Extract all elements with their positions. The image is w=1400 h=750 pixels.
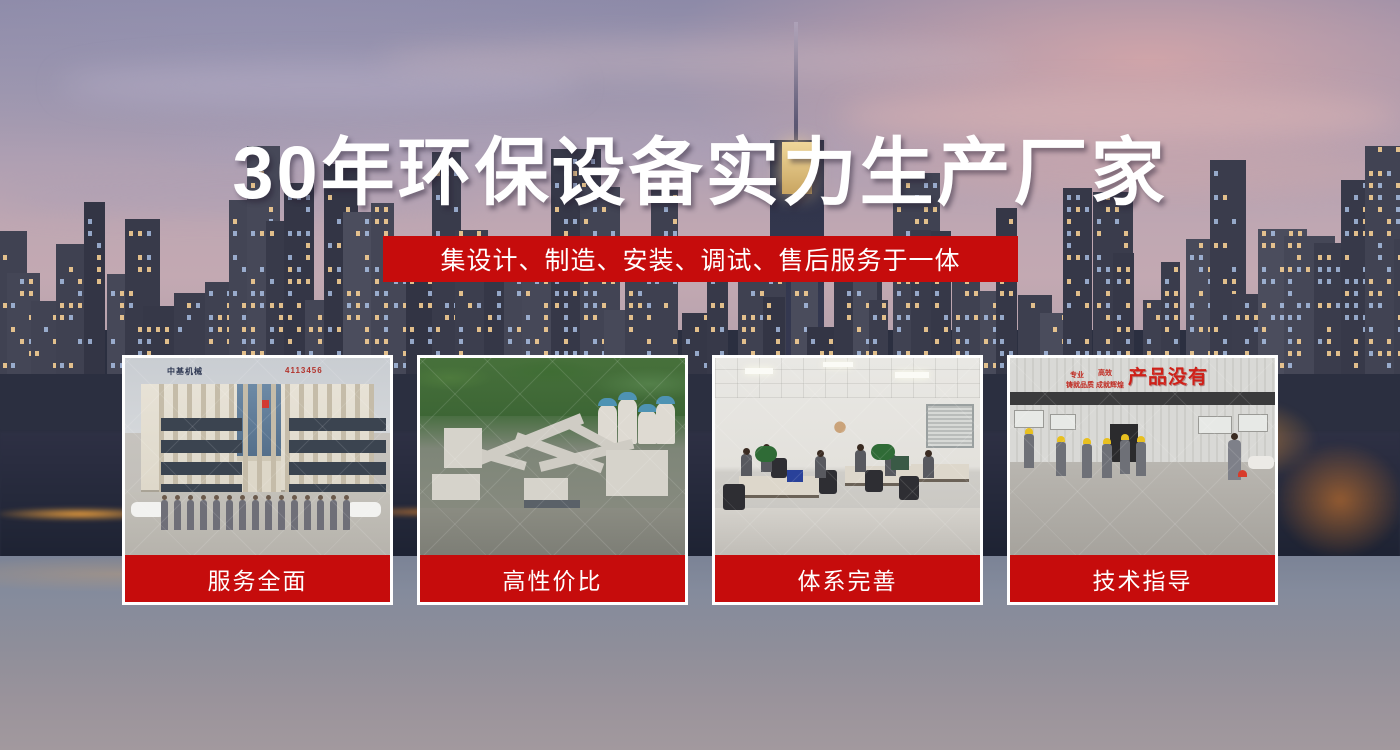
window-light bbox=[309, 327, 313, 332]
window-light bbox=[924, 219, 928, 224]
window-light bbox=[1126, 267, 1130, 272]
window-light bbox=[233, 255, 237, 260]
facade-column bbox=[369, 384, 374, 492]
window-light bbox=[165, 327, 169, 332]
factory-window bbox=[1238, 414, 1268, 432]
window-light bbox=[279, 303, 283, 308]
window-light bbox=[1174, 291, 1178, 296]
window-light bbox=[1199, 327, 1203, 332]
window-light bbox=[1106, 267, 1110, 272]
facade-column bbox=[299, 384, 304, 492]
window-light bbox=[497, 303, 501, 308]
office-chair bbox=[899, 476, 919, 500]
window-light bbox=[384, 219, 388, 224]
factory-slogan-small: 专业 bbox=[1070, 370, 1084, 380]
window-light bbox=[337, 279, 341, 284]
window-light bbox=[384, 315, 388, 320]
window-light bbox=[297, 303, 301, 308]
window-light bbox=[584, 219, 588, 224]
window-light bbox=[328, 327, 332, 332]
window-light bbox=[270, 327, 274, 332]
window-light bbox=[1369, 303, 1373, 308]
staff-person bbox=[187, 500, 194, 530]
window-light bbox=[1126, 339, 1130, 344]
facade-column bbox=[341, 384, 346, 492]
window-light bbox=[337, 243, 341, 248]
building-phone-text: 4113456 bbox=[285, 366, 323, 375]
storage-silo bbox=[656, 402, 675, 444]
window-light bbox=[88, 219, 92, 224]
window-light bbox=[1232, 279, 1236, 284]
window-light bbox=[375, 315, 379, 320]
window-light bbox=[1387, 219, 1391, 224]
window-light bbox=[1067, 339, 1071, 344]
window-light bbox=[120, 291, 124, 296]
window-light bbox=[445, 315, 449, 320]
window-light bbox=[965, 291, 969, 296]
window-light bbox=[1053, 327, 1057, 332]
window-light bbox=[384, 291, 388, 296]
window-light bbox=[1124, 243, 1128, 248]
window-light bbox=[1214, 219, 1218, 224]
window-light bbox=[897, 327, 901, 332]
window-light bbox=[138, 255, 142, 260]
window-light bbox=[1262, 243, 1266, 248]
window-light bbox=[593, 315, 597, 320]
staff-person bbox=[239, 500, 246, 530]
window-light bbox=[1223, 279, 1227, 284]
office-chair bbox=[723, 484, 745, 510]
skyline-building bbox=[84, 202, 105, 374]
window-light bbox=[1378, 303, 1382, 308]
window-light bbox=[1387, 339, 1391, 344]
window-light bbox=[288, 339, 292, 344]
window-light bbox=[147, 327, 151, 332]
facade-column bbox=[271, 384, 276, 492]
window-light bbox=[356, 291, 360, 296]
window-light bbox=[638, 303, 642, 308]
window-light bbox=[328, 291, 332, 296]
window-light bbox=[129, 303, 133, 308]
window-light bbox=[1396, 219, 1400, 224]
window-light bbox=[410, 327, 414, 332]
ceiling-light bbox=[823, 362, 853, 367]
window-light bbox=[365, 303, 369, 308]
window-light bbox=[956, 315, 960, 320]
window-light bbox=[1190, 315, 1194, 320]
window-light bbox=[1271, 231, 1275, 236]
window-light bbox=[318, 327, 322, 332]
window-light bbox=[1345, 279, 1349, 284]
window-light bbox=[1327, 327, 1331, 332]
window-light bbox=[365, 327, 369, 332]
window-light bbox=[1318, 339, 1322, 344]
window-light bbox=[573, 291, 577, 296]
window-light bbox=[629, 291, 633, 296]
card-caption: 高性价比 bbox=[420, 555, 685, 602]
window-light bbox=[445, 303, 449, 308]
window-light bbox=[944, 315, 948, 320]
window-light bbox=[318, 339, 322, 344]
window-light bbox=[984, 315, 988, 320]
window-light bbox=[1097, 219, 1101, 224]
window-light bbox=[375, 291, 379, 296]
window-light bbox=[1369, 231, 1373, 236]
window-light bbox=[147, 231, 151, 236]
worker-person bbox=[1024, 434, 1034, 468]
window-light bbox=[804, 291, 808, 296]
facade-column bbox=[327, 384, 332, 492]
silo-cap bbox=[598, 398, 617, 406]
window-light bbox=[11, 327, 15, 332]
window-light bbox=[1288, 291, 1292, 296]
window-light bbox=[1031, 303, 1035, 308]
window-light bbox=[1297, 351, 1301, 356]
window-light bbox=[673, 219, 677, 224]
window-light bbox=[328, 243, 332, 248]
window-light bbox=[1076, 291, 1080, 296]
window-light bbox=[1076, 231, 1080, 236]
window-light bbox=[187, 315, 191, 320]
window-light bbox=[935, 303, 939, 308]
window-light bbox=[1327, 255, 1331, 260]
window-light bbox=[365, 255, 369, 260]
window-light bbox=[1378, 351, 1382, 356]
staff-person bbox=[252, 500, 259, 530]
window-light bbox=[564, 291, 568, 296]
factory-slogan-small: 成就辉煌 bbox=[1096, 380, 1124, 390]
window-light bbox=[306, 255, 310, 260]
window-light bbox=[88, 231, 92, 236]
window-light bbox=[1262, 303, 1266, 308]
facade-window bbox=[353, 462, 370, 475]
window-light bbox=[1126, 327, 1130, 332]
window-light bbox=[584, 291, 588, 296]
facade-window bbox=[337, 418, 354, 431]
window-light bbox=[882, 303, 886, 308]
staff-person bbox=[174, 500, 181, 530]
card-caption: 服务全面 bbox=[125, 555, 390, 602]
window-light bbox=[1174, 303, 1178, 308]
window-light bbox=[935, 339, 939, 344]
window-light bbox=[1190, 327, 1194, 332]
window-light bbox=[306, 231, 310, 236]
facade-window bbox=[369, 462, 386, 475]
window-light bbox=[1306, 267, 1310, 272]
facade-window bbox=[177, 462, 194, 475]
window-light bbox=[97, 267, 101, 272]
window-light bbox=[1369, 291, 1373, 296]
window-light bbox=[1262, 231, 1266, 236]
window-light bbox=[1387, 363, 1391, 368]
window-light bbox=[1378, 255, 1382, 260]
window-light bbox=[584, 315, 588, 320]
window-light bbox=[742, 315, 746, 320]
window-light bbox=[120, 303, 124, 308]
window-light bbox=[593, 303, 597, 308]
window-light bbox=[1117, 315, 1121, 320]
staff-person bbox=[317, 500, 324, 530]
feature-card[interactable]: 中基机械 4113456 服务全面 bbox=[122, 355, 393, 605]
facade-column bbox=[187, 384, 192, 492]
window-light bbox=[1106, 339, 1110, 344]
facade-window bbox=[321, 418, 338, 431]
feature-card[interactable]: 产品没有 专业 高效 铸就品质 成就辉煌 技术指导 bbox=[1007, 355, 1278, 605]
window-light bbox=[459, 291, 463, 296]
window-light bbox=[629, 327, 633, 332]
window-light bbox=[242, 315, 246, 320]
office-worker bbox=[815, 456, 826, 478]
window-light bbox=[1345, 255, 1349, 260]
window-light bbox=[584, 303, 588, 308]
worker-person bbox=[1082, 444, 1092, 478]
factory-slogan-small: 铸就品质 bbox=[1066, 380, 1094, 390]
window-light bbox=[497, 291, 501, 296]
window-light bbox=[602, 303, 606, 308]
window-light bbox=[375, 339, 379, 344]
window-light bbox=[555, 303, 559, 308]
window-light bbox=[1369, 279, 1373, 284]
plant-building bbox=[606, 450, 668, 496]
window-light bbox=[1147, 303, 1151, 308]
silo-cap bbox=[638, 404, 657, 412]
window-light bbox=[288, 279, 292, 284]
window-light bbox=[673, 339, 677, 344]
window-light bbox=[375, 219, 379, 224]
window-light bbox=[196, 303, 200, 308]
window-light bbox=[1174, 267, 1178, 272]
window-light bbox=[365, 219, 369, 224]
card-photo-plant bbox=[420, 358, 685, 555]
feature-card[interactable]: 体系完善 bbox=[712, 355, 983, 605]
window-light bbox=[60, 363, 64, 368]
window-light bbox=[1232, 267, 1236, 272]
window-light bbox=[270, 303, 274, 308]
window-light bbox=[120, 315, 124, 320]
window-light bbox=[517, 327, 521, 332]
facade-window bbox=[289, 440, 306, 453]
window-light bbox=[251, 339, 255, 344]
window-light bbox=[974, 291, 978, 296]
window-light bbox=[1369, 351, 1373, 356]
window-light bbox=[882, 315, 886, 320]
window-light bbox=[1306, 303, 1310, 308]
window-light bbox=[288, 291, 292, 296]
window-light bbox=[1327, 279, 1331, 284]
facade-window bbox=[289, 462, 306, 475]
window-light bbox=[1165, 315, 1169, 320]
plant-building bbox=[524, 478, 568, 500]
window-light bbox=[356, 231, 360, 236]
window-light bbox=[751, 291, 755, 296]
facade-window bbox=[321, 462, 338, 475]
window-light bbox=[1245, 339, 1249, 344]
window-light bbox=[1387, 267, 1391, 272]
window-light bbox=[508, 339, 512, 344]
window-light bbox=[1336, 267, 1340, 272]
window-light bbox=[593, 339, 597, 344]
window-light bbox=[1354, 219, 1358, 224]
window-light bbox=[1085, 303, 1089, 308]
window-light bbox=[29, 291, 33, 296]
window-light bbox=[564, 315, 568, 320]
ceiling-light bbox=[745, 368, 773, 374]
window-light bbox=[69, 315, 73, 320]
window-light bbox=[906, 303, 910, 308]
staff-person bbox=[291, 500, 298, 530]
window-light bbox=[1297, 267, 1301, 272]
window-light bbox=[1147, 339, 1151, 344]
window-light bbox=[318, 315, 322, 320]
window-light bbox=[1126, 303, 1130, 308]
window-light bbox=[97, 255, 101, 260]
parked-car bbox=[1248, 456, 1274, 469]
potted-plant bbox=[871, 444, 895, 460]
facade-window bbox=[193, 440, 210, 453]
window-light bbox=[129, 291, 133, 296]
window-light bbox=[1124, 231, 1128, 236]
window-light bbox=[1271, 243, 1275, 248]
window-light bbox=[1085, 339, 1089, 344]
window-light bbox=[751, 327, 755, 332]
office-window-blinds bbox=[926, 404, 974, 448]
window-light bbox=[60, 315, 64, 320]
window-light bbox=[111, 363, 115, 368]
window-light bbox=[218, 327, 222, 332]
subtitle-banner: 集设计、制造、安装、调试、售后服务于一体 bbox=[383, 236, 1018, 282]
window-light bbox=[11, 303, 15, 308]
staff-person bbox=[278, 500, 285, 530]
factory-slogan-text: 产品没有 bbox=[1128, 362, 1208, 389]
window-light bbox=[337, 219, 341, 224]
window-light bbox=[233, 291, 237, 296]
window-light bbox=[1297, 315, 1301, 320]
office-chair bbox=[771, 458, 787, 478]
window-light bbox=[251, 291, 255, 296]
staff-person bbox=[213, 500, 220, 530]
window-light bbox=[242, 339, 246, 344]
window-light bbox=[337, 327, 341, 332]
window-light bbox=[11, 363, 15, 368]
window-light bbox=[1085, 279, 1089, 284]
window-light bbox=[1199, 255, 1203, 260]
facade-window bbox=[289, 418, 306, 431]
window-light bbox=[573, 327, 577, 332]
window-light bbox=[742, 327, 746, 332]
window-light bbox=[1106, 303, 1110, 308]
window-light bbox=[1288, 339, 1292, 344]
silo-cap bbox=[656, 396, 675, 404]
window-light bbox=[1223, 315, 1227, 320]
plant-building bbox=[432, 474, 480, 500]
window-light bbox=[1345, 303, 1349, 308]
window-light bbox=[1223, 339, 1227, 344]
window-light bbox=[233, 219, 237, 224]
window-light bbox=[555, 291, 559, 296]
window-light bbox=[873, 339, 877, 344]
window-light bbox=[847, 315, 851, 320]
subtitle-text: 集设计、制造、安装、调试、售后服务于一体 bbox=[440, 241, 960, 277]
window-light bbox=[1297, 255, 1301, 260]
window-light bbox=[629, 315, 633, 320]
window-light bbox=[544, 327, 548, 332]
window-light bbox=[629, 303, 633, 308]
facade-window bbox=[209, 418, 226, 431]
feature-card-list: 中基机械 4113456 服务全面 高性价比 体系完善 bbox=[122, 355, 1278, 605]
window-light bbox=[356, 303, 360, 308]
window-light bbox=[965, 315, 969, 320]
window-light bbox=[1354, 315, 1358, 320]
window-light bbox=[242, 327, 246, 332]
window-light bbox=[573, 219, 577, 224]
window-light bbox=[1214, 327, 1218, 332]
window-light bbox=[347, 291, 351, 296]
window-light bbox=[419, 303, 423, 308]
window-light bbox=[328, 267, 332, 272]
window-light bbox=[544, 315, 548, 320]
window-light bbox=[347, 315, 351, 320]
window-light bbox=[1245, 315, 1249, 320]
window-light bbox=[1199, 243, 1203, 248]
window-light bbox=[593, 291, 597, 296]
window-light bbox=[1190, 255, 1194, 260]
window-light bbox=[297, 327, 301, 332]
staff-person bbox=[265, 500, 272, 530]
parked-car bbox=[347, 502, 381, 517]
card-caption: 技术指导 bbox=[1010, 555, 1275, 602]
window-light bbox=[1076, 255, 1080, 260]
window-light bbox=[279, 315, 283, 320]
facade-column bbox=[285, 384, 290, 492]
facade-window bbox=[193, 418, 210, 431]
window-light bbox=[138, 327, 142, 332]
window-light bbox=[760, 291, 764, 296]
office-worker bbox=[741, 454, 752, 476]
window-light bbox=[488, 315, 492, 320]
window-light bbox=[804, 303, 808, 308]
window-light bbox=[1354, 279, 1358, 284]
window-light bbox=[829, 339, 833, 344]
window-light bbox=[97, 243, 101, 248]
window-light bbox=[1174, 339, 1178, 344]
window-light bbox=[270, 279, 274, 284]
silo-cap bbox=[618, 392, 637, 400]
window-light bbox=[138, 231, 142, 236]
window-light bbox=[297, 279, 301, 284]
window-light bbox=[1117, 279, 1121, 284]
facade-column bbox=[257, 384, 262, 492]
window-light bbox=[288, 231, 292, 236]
window-light bbox=[526, 291, 530, 296]
window-light bbox=[956, 327, 960, 332]
window-light bbox=[260, 291, 264, 296]
window-light bbox=[847, 303, 851, 308]
window-light bbox=[365, 339, 369, 344]
feature-card[interactable]: 高性价比 bbox=[417, 355, 688, 605]
window-light bbox=[1232, 219, 1236, 224]
window-light bbox=[1117, 267, 1121, 272]
office-chair bbox=[865, 470, 883, 492]
window-light bbox=[375, 267, 379, 272]
window-light bbox=[965, 339, 969, 344]
window-light bbox=[1387, 279, 1391, 284]
window-light bbox=[944, 327, 948, 332]
window-light bbox=[306, 279, 310, 284]
window-light bbox=[915, 219, 919, 224]
window-light bbox=[1165, 303, 1169, 308]
window-light bbox=[1245, 303, 1249, 308]
window-light bbox=[1288, 315, 1292, 320]
